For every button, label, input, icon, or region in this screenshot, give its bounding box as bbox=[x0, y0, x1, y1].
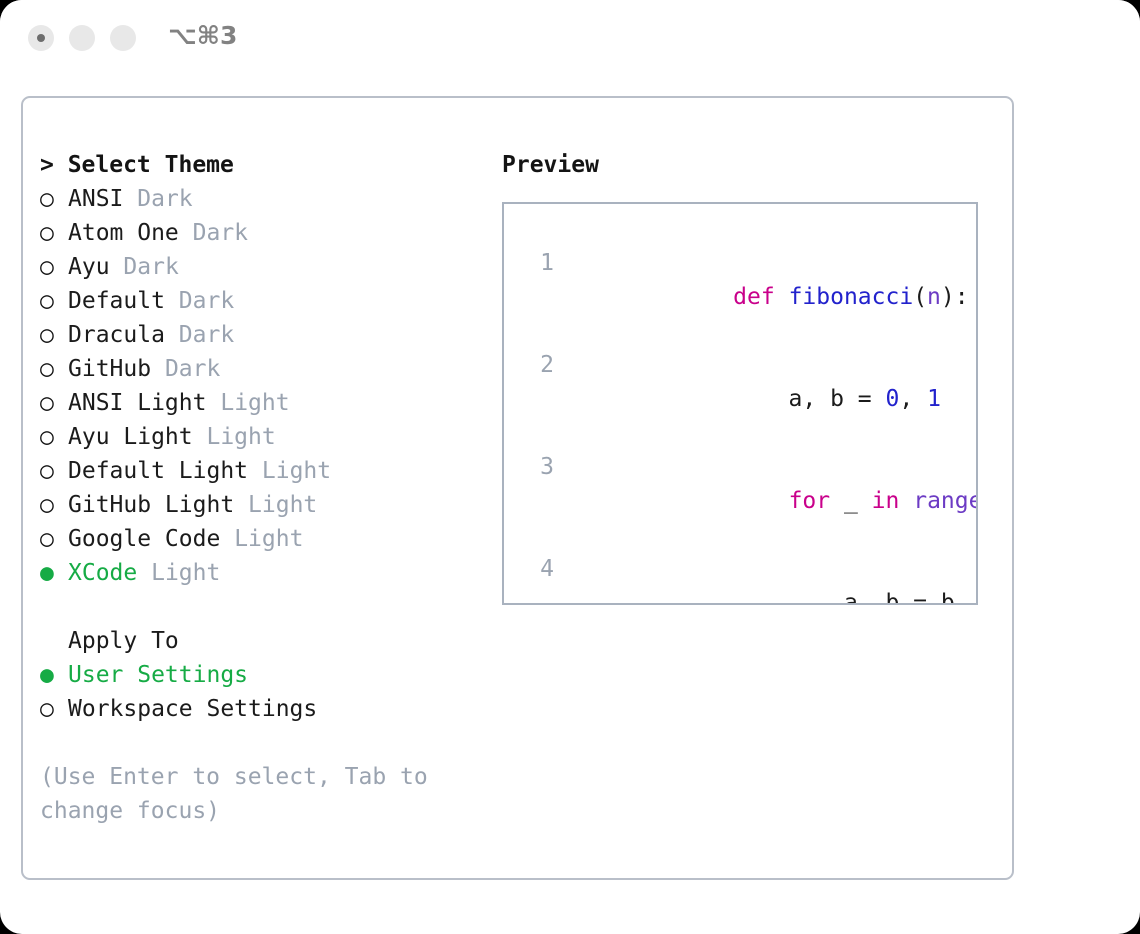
code-token: 1 bbox=[927, 386, 941, 412]
theme-name: Ayu Light bbox=[68, 420, 193, 454]
theme-variant bbox=[193, 420, 207, 454]
theme-list-item-google-code[interactable]: ○ Google Code Light bbox=[40, 522, 490, 556]
traffic-light-maximize[interactable] bbox=[110, 25, 136, 51]
code-token: ( bbox=[913, 284, 927, 310]
theme-variant bbox=[179, 216, 193, 250]
code-token: n bbox=[927, 284, 941, 310]
code-content: for _ in range(n): bbox=[567, 450, 978, 552]
theme-variant bbox=[110, 250, 124, 284]
code-token: ): bbox=[941, 284, 969, 310]
code-token: 0 bbox=[886, 386, 900, 412]
theme-variant bbox=[137, 556, 151, 590]
radio-icon[interactable]: ○ bbox=[40, 284, 68, 318]
theme-list-item-default-light[interactable]: ○ Default Light Light bbox=[40, 454, 490, 488]
radio-icon[interactable]: ○ bbox=[40, 692, 68, 726]
apply-to-group: Apply To ● User Settings ○ Workspace Set… bbox=[40, 624, 490, 726]
code-line: 1 def fibonacci(n): bbox=[504, 246, 976, 348]
theme-variant-label: Dark bbox=[137, 182, 192, 216]
theme-name: GitHub Light bbox=[68, 488, 234, 522]
radio-icon[interactable]: ○ bbox=[40, 386, 68, 420]
code-token: _ bbox=[830, 488, 872, 514]
theme-list-item-xcode[interactable]: ● XCode Light bbox=[40, 556, 490, 590]
radio-selected-icon[interactable]: ● bbox=[40, 658, 68, 692]
code-content: def fibonacci(n): bbox=[567, 246, 969, 348]
traffic-light-minimize[interactable] bbox=[69, 25, 95, 51]
theme-variant-label: Light bbox=[234, 522, 303, 556]
theme-variant-label: Light bbox=[206, 420, 275, 454]
code-token: , bbox=[899, 386, 927, 412]
code-token: a, b = b, a + b bbox=[733, 590, 978, 605]
theme-list-item-atom-one[interactable]: ○ Atom One Dark bbox=[40, 216, 490, 250]
preview-panel: Preview 1 def fibonacci(n): 2 a, b = 0, … bbox=[502, 148, 992, 605]
theme-variant bbox=[248, 454, 262, 488]
theme-list: ○ ANSI Dark ○ Atom One Dark ○ Ayu Dark bbox=[40, 182, 490, 590]
theme-variant bbox=[220, 522, 234, 556]
theme-list-item-ayu[interactable]: ○ Ayu Dark bbox=[40, 250, 490, 284]
code-token: range bbox=[913, 488, 978, 514]
line-number: 1 bbox=[526, 246, 554, 348]
theme-variant-label: Light bbox=[151, 556, 220, 590]
code-content: a, b = b, a + b bbox=[567, 552, 978, 605]
active-dot-icon bbox=[37, 34, 45, 42]
theme-list-item-ansi[interactable]: ○ ANSI Dark bbox=[40, 182, 490, 216]
theme-variant-label: Light bbox=[220, 386, 289, 420]
theme-list-item-github-light[interactable]: ○ GitHub Light Light bbox=[40, 488, 490, 522]
theme-variant-label: Light bbox=[262, 454, 331, 488]
radio-icon[interactable]: ○ bbox=[40, 488, 68, 522]
theme-name: Default bbox=[68, 284, 165, 318]
code-token: a, b = bbox=[733, 386, 885, 412]
traffic-light-close[interactable] bbox=[28, 25, 54, 51]
theme-name: Ayu bbox=[68, 250, 110, 284]
theme-variant bbox=[123, 182, 137, 216]
theme-name: Google Code bbox=[68, 522, 220, 556]
radio-icon[interactable]: ○ bbox=[40, 352, 68, 386]
theme-variant bbox=[165, 318, 179, 352]
radio-icon[interactable]: ○ bbox=[40, 318, 68, 352]
list-spacer bbox=[40, 590, 490, 624]
code-line: 2 a, b = 0, 1 bbox=[504, 348, 976, 450]
theme-list-item-default[interactable]: ○ Default Dark bbox=[40, 284, 490, 318]
theme-picker-panel: > Select Theme ○ ANSI Dark ○ Atom One Da… bbox=[40, 148, 490, 828]
theme-variant-label: Light bbox=[248, 488, 317, 522]
theme-list-item-ayu-light[interactable]: ○ Ayu Light Light bbox=[40, 420, 490, 454]
radio-icon[interactable]: ○ bbox=[40, 420, 68, 454]
theme-list-item-github[interactable]: ○ GitHub Dark bbox=[40, 352, 490, 386]
hint-spacer bbox=[40, 726, 490, 760]
theme-variant-label: Dark bbox=[179, 284, 234, 318]
theme-variant bbox=[151, 352, 165, 386]
theme-name: Default Light bbox=[68, 454, 248, 488]
keyboard-shortcut-label: ⌥⌘3 bbox=[168, 21, 237, 50]
radio-selected-icon[interactable]: ● bbox=[40, 556, 68, 590]
theme-name: GitHub bbox=[68, 352, 151, 386]
theme-name: XCode bbox=[68, 556, 137, 590]
window-controls bbox=[28, 25, 136, 51]
code-line: 3 for _ in range(n): bbox=[504, 450, 976, 552]
line-number: 2 bbox=[526, 348, 554, 450]
theme-name: ANSI bbox=[68, 182, 123, 216]
theme-picker-header: > Select Theme bbox=[40, 148, 490, 182]
preview-box: 1 def fibonacci(n): 2 a, b = 0, 1 3 for … bbox=[502, 202, 978, 605]
theme-name: Atom One bbox=[68, 216, 179, 250]
content-frame: > Select Theme ○ ANSI Dark ○ Atom One Da… bbox=[21, 96, 1014, 880]
code-token: def bbox=[733, 284, 788, 310]
window-titlebar: ⌥⌘3 bbox=[0, 0, 1140, 78]
code-token bbox=[899, 488, 913, 514]
theme-variant-label: Dark bbox=[179, 318, 234, 352]
theme-variant-label: Dark bbox=[123, 250, 178, 284]
theme-name: ANSI Light bbox=[68, 386, 206, 420]
theme-variant bbox=[234, 488, 248, 522]
line-number: 3 bbox=[526, 450, 554, 552]
terminal-window: ⌥⌘3 > Select Theme ○ ANSI Dark ○ Atom On… bbox=[0, 0, 1140, 934]
radio-icon[interactable]: ○ bbox=[40, 454, 68, 488]
theme-variant-label: Dark bbox=[193, 216, 248, 250]
line-number: 4 bbox=[526, 552, 554, 605]
radio-icon[interactable]: ○ bbox=[40, 182, 68, 216]
code-content: a, b = 0, 1 bbox=[567, 348, 941, 450]
keyboard-hint-text: (Use Enter to select, Tab to change focu… bbox=[40, 760, 454, 828]
preview-title: Preview bbox=[502, 148, 992, 182]
apply-to-label: User Settings bbox=[68, 658, 248, 692]
code-token: fibonacci bbox=[789, 284, 914, 310]
code-token: for bbox=[789, 488, 831, 514]
apply-to-item-workspace-settings[interactable]: ○ Workspace Settings bbox=[40, 692, 490, 726]
theme-name: Dracula bbox=[68, 318, 165, 352]
code-line: 4 a, b = b, a + b bbox=[504, 552, 976, 605]
radio-icon[interactable]: ○ bbox=[40, 250, 68, 284]
radio-icon[interactable]: ○ bbox=[40, 216, 68, 250]
apply-to-label: Workspace Settings bbox=[68, 692, 317, 726]
apply-to-item-user-settings[interactable]: ● User Settings bbox=[40, 658, 490, 692]
code-token bbox=[733, 488, 788, 514]
radio-icon[interactable]: ○ bbox=[40, 522, 68, 556]
theme-list-item-dracula[interactable]: ○ Dracula Dark bbox=[40, 318, 490, 352]
apply-to-header: Apply To bbox=[40, 624, 490, 658]
theme-variant bbox=[206, 386, 220, 420]
theme-variant-label: Dark bbox=[165, 352, 220, 386]
theme-variant bbox=[165, 284, 179, 318]
theme-list-item-ansi-light[interactable]: ○ ANSI Light Light bbox=[40, 386, 490, 420]
code-token: in bbox=[872, 488, 900, 514]
